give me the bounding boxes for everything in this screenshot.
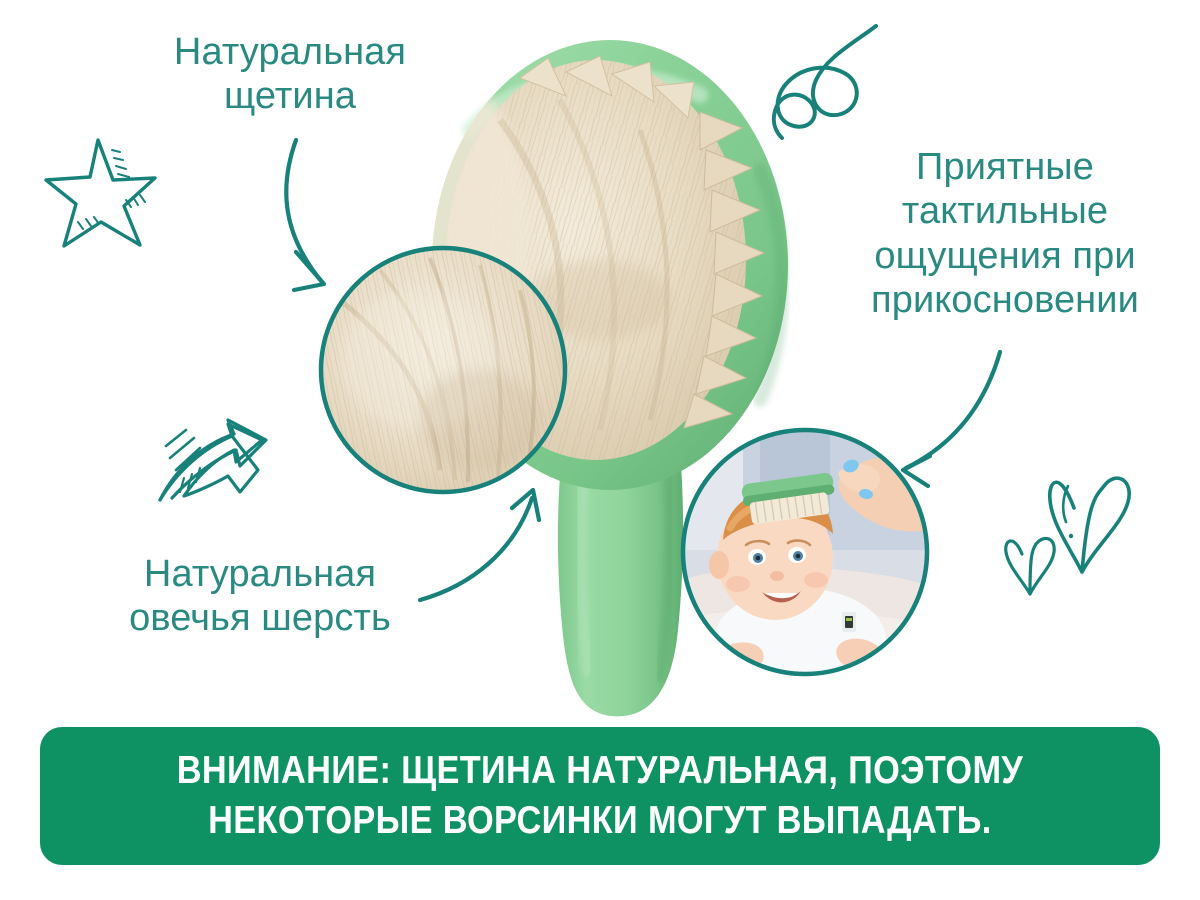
infographic-canvas: Натуральная щетина Натуральная овечья ше… bbox=[0, 0, 1200, 900]
baby-brushing-photo-circle bbox=[683, 430, 927, 692]
warning-banner: ВНИМАНИЕ: ЩЕТИНА НАТУРАЛЬНАЯ, ПОЭТОМУ НЕ… bbox=[40, 727, 1160, 865]
bristle-closeup-circle bbox=[321, 248, 565, 492]
warning-banner-text: ВНИМАНИЕ: ЩЕТИНА НАТУРАЛЬНАЯ, ПОЭТОМУ НЕ… bbox=[177, 746, 1023, 846]
